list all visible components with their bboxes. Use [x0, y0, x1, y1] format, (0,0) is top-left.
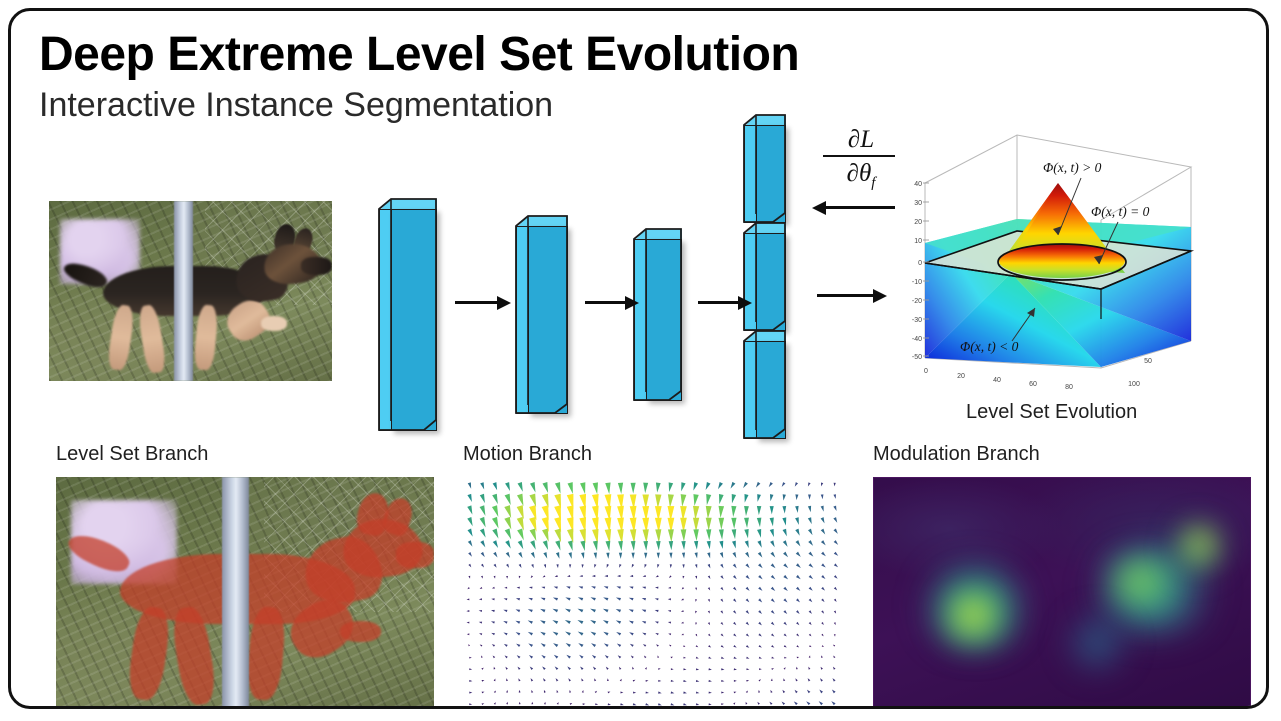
annotation-phi-positive: Φ(x, t) > 0 [1043, 160, 1102, 175]
fence-post [222, 477, 248, 709]
level-set-3d-plot: 40 30 20 10 0 -10 -20 -30 -40 -50 0 [895, 123, 1213, 393]
formula-numerator: ∂L [817, 127, 905, 153]
mask-tail [65, 527, 134, 578]
svg-text:20: 20 [957, 373, 965, 380]
modulation-branch-image [873, 477, 1251, 709]
svg-text:-40: -40 [912, 336, 922, 343]
svg-text:10: 10 [914, 238, 922, 245]
svg-text:40: 40 [914, 181, 922, 188]
dog-paw [261, 316, 286, 330]
annotation-phi-zero: Φ(x, t) = 0 [1091, 204, 1150, 219]
branch-block-level-set [744, 115, 786, 223]
gradient-formula: ∂L ∂θf [817, 127, 905, 192]
branch-block-modulation [744, 331, 786, 439]
svg-text:30: 30 [914, 200, 922, 207]
quiver-field [463, 477, 841, 709]
slab-outline [744, 223, 786, 331]
annotation-phi-negative: Φ(x, t) < 0 [960, 339, 1019, 354]
svg-text:60: 60 [1029, 381, 1037, 388]
mask-paw [340, 621, 382, 642]
svg-text:-10: -10 [912, 279, 922, 286]
slab-outline [634, 229, 682, 401]
conv-block-1 [379, 199, 437, 431]
slab-outline [744, 331, 786, 439]
poster-frame: Deep Extreme Level Set Evolution Interac… [8, 8, 1269, 709]
svg-text:-30: -30 [912, 317, 922, 324]
branch-block-motion [744, 223, 786, 331]
svg-text:0: 0 [924, 368, 928, 375]
motion-branch-image [463, 477, 841, 709]
page-title: Deep Extreme Level Set Evolution [39, 27, 799, 82]
motion-branch-label: Motion Branch [463, 443, 592, 466]
mask-snout [396, 542, 434, 568]
slab-outline [744, 115, 786, 223]
level-set-plot-caption: Level Set Evolution [966, 401, 1137, 424]
formula-denominator-subscript: f [871, 175, 875, 191]
fence-post [174, 201, 194, 381]
conv-block-2 [516, 216, 568, 414]
heat-blob-hot [952, 598, 996, 632]
svg-text:-50: -50 [912, 354, 922, 361]
dog-snout [301, 257, 332, 275]
heat-blob [1062, 608, 1132, 678]
mask-leg-1 [125, 606, 172, 703]
slab-outline [516, 216, 568, 414]
formula-denominator: ∂θf [817, 159, 905, 192]
svg-text:40: 40 [993, 377, 1001, 384]
input-dog-photo [49, 201, 332, 381]
heat-blob [1100, 560, 1180, 604]
conv-block-3 [634, 229, 682, 401]
svg-text:50: 50 [1144, 358, 1152, 365]
svg-text:80: 80 [1065, 384, 1073, 391]
level-set-surface: 40 30 20 10 0 -10 -20 -30 -40 -50 0 [895, 123, 1213, 393]
slab-outline [379, 199, 437, 431]
svg-text:-20: -20 [912, 298, 922, 305]
level-set-branch-label: Level Set Branch [56, 443, 208, 466]
svg-text:0: 0 [918, 260, 922, 267]
formula-denominator-symbol: ∂θ [847, 160, 872, 187]
svg-text:20: 20 [914, 219, 922, 226]
formula-fraction-bar [823, 155, 899, 157]
page-subtitle: Interactive Instance Segmentation [39, 86, 553, 125]
heat-blob-hot [1186, 522, 1214, 566]
level-set-branch-image [56, 477, 434, 709]
svg-text:100: 100 [1128, 381, 1140, 388]
modulation-branch-label: Modulation Branch [873, 443, 1040, 466]
